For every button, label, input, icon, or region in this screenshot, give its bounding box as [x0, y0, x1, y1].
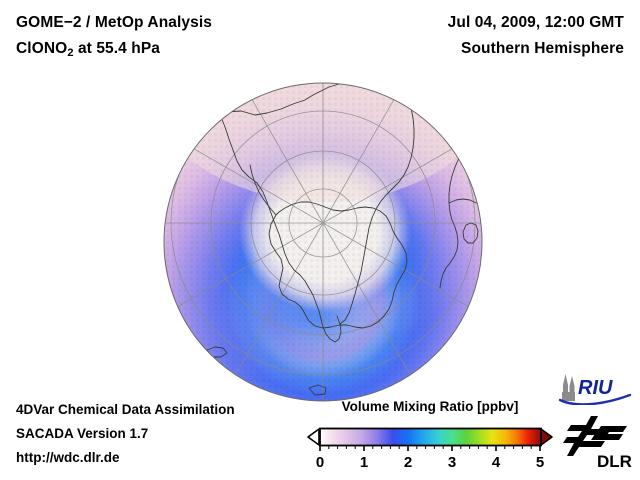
- colorbar-gradient: [320, 429, 541, 446]
- colorbar-tick-0: 0: [316, 454, 324, 471]
- dlr-logo: DLR: [561, 414, 633, 477]
- figure-canvas: GOME−2 / MetOp Analysis ClONO2 at 55.4 h…: [0, 0, 640, 480]
- timestamp: Jul 04, 2009, 12:00 GMT: [448, 14, 624, 32]
- colorbar-tick-2: 2: [404, 454, 412, 471]
- footer-version: SACADA Version 1.7: [16, 426, 148, 441]
- species-level: at 55.4 hPa: [74, 40, 161, 57]
- dlr-mark-icon: [563, 416, 627, 456]
- species-name: ClONO: [16, 40, 67, 57]
- riu-wordmark: RIU: [578, 377, 613, 399]
- colorbar-tick-labels: 0 1 2 3 4 5: [316, 454, 544, 471]
- colorbar: Volume Mixing Ratio [ppbv]: [306, 399, 554, 471]
- dlr-wordmark: DLR: [597, 452, 632, 471]
- colorbar-tick-4: 4: [492, 454, 501, 471]
- page-title: GOME−2 / MetOp Analysis: [16, 14, 212, 32]
- cathedral-spires-icon: [562, 374, 575, 401]
- species-subtitle: ClONO2 at 55.4 hPa: [16, 40, 160, 59]
- globe-map: [163, 82, 483, 402]
- colorbar-title: Volume Mixing Ratio [ppbv]: [306, 399, 554, 414]
- region-label: Southern Hemisphere: [461, 40, 624, 58]
- colorbar-tick-1: 1: [360, 454, 368, 471]
- colorbar-tick-5: 5: [536, 454, 544, 471]
- colorbar-over-arrow: [541, 429, 552, 445]
- riu-logo: RIU: [558, 371, 632, 410]
- footer-url[interactable]: http://wdc.dlr.de: [16, 450, 120, 465]
- footer-method: 4DVar Chemical Data Assimilation: [16, 402, 235, 417]
- colorbar-under-arrow: [308, 429, 319, 445]
- colorbar-tick-3: 3: [448, 454, 456, 471]
